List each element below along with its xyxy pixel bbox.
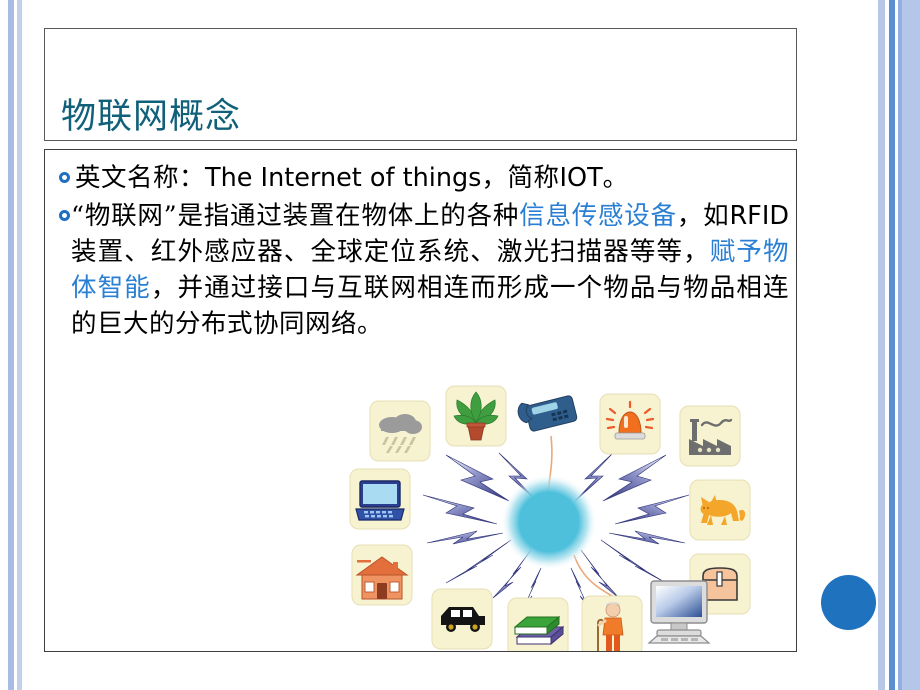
rain-cloud-icon: [370, 401, 430, 461]
bullet-segment: 。: [603, 163, 629, 193]
car-icon: [432, 589, 492, 649]
list-item[interactable]: “物联网”是指通过装置在物体上的各种信息传感设备，如RFID装置、红外感应器、全…: [53, 198, 789, 342]
bullet-segment: 英文名称：: [75, 163, 205, 193]
bullet-segment: 装置、红外感应器、全球定位系统、激光扫描器等等，: [71, 237, 710, 267]
bullet-segment: The Internet of things: [205, 163, 481, 193]
bullet-text: 英文名称：The Internet of things，简称IOT。: [75, 160, 789, 196]
slide-content-placeholder[interactable]: 英文名称：The Internet of things，简称IOT。 “物联网”…: [44, 149, 797, 652]
right-edge-band-6: [902, 0, 920, 690]
desktop-computer-icon: [649, 581, 709, 643]
left-edge-band-inner: [17, 0, 22, 690]
page-title: 物联网概念: [61, 99, 241, 136]
telephone-icon: [516, 391, 578, 434]
bullet-segment-highlight: 信息传感设备: [519, 201, 677, 231]
ring-bullet-icon: [53, 160, 75, 183]
cat-icon: [690, 480, 750, 540]
slide-title-placeholder[interactable]: 物联网概念: [44, 28, 797, 141]
factory-icon: [680, 406, 740, 466]
list-item[interactable]: 英文名称：The Internet of things，简称IOT。: [53, 160, 789, 196]
right-edge-band-1: [878, 0, 885, 690]
bullet-segment: ，简称: [481, 163, 559, 193]
network-hub-glow: [501, 474, 597, 570]
bullet-list: 英文名称：The Internet of things，简称IOT。 “物联网”…: [53, 160, 789, 344]
page-accent-dot: [821, 575, 876, 630]
internet-of-things-hub-diagram[interactable]: [341, 383, 771, 652]
bullet-segment: IOT: [560, 163, 603, 193]
elderly-person-icon: [582, 596, 642, 652]
bullet-text: “物联网”是指通过装置在物体上的各种信息传感设备，如RFID装置、红外感应器、全…: [71, 198, 789, 342]
laptop-icon: [350, 469, 410, 529]
books-icon: [508, 598, 568, 652]
bullet-segment: ，如: [677, 201, 730, 231]
bullet-segment: ，并通过接口与互联网相连而形成一个物品与物品相连的巨大的分布式协同网络。: [71, 273, 789, 339]
bullet-segment: “物联网”是指通过装置在物体上的各种: [71, 201, 519, 231]
alarm-siren-icon: [600, 394, 660, 454]
potted-plant-icon: [446, 386, 506, 446]
bullet-segment: RFID: [729, 201, 789, 231]
house-icon: [352, 545, 412, 605]
